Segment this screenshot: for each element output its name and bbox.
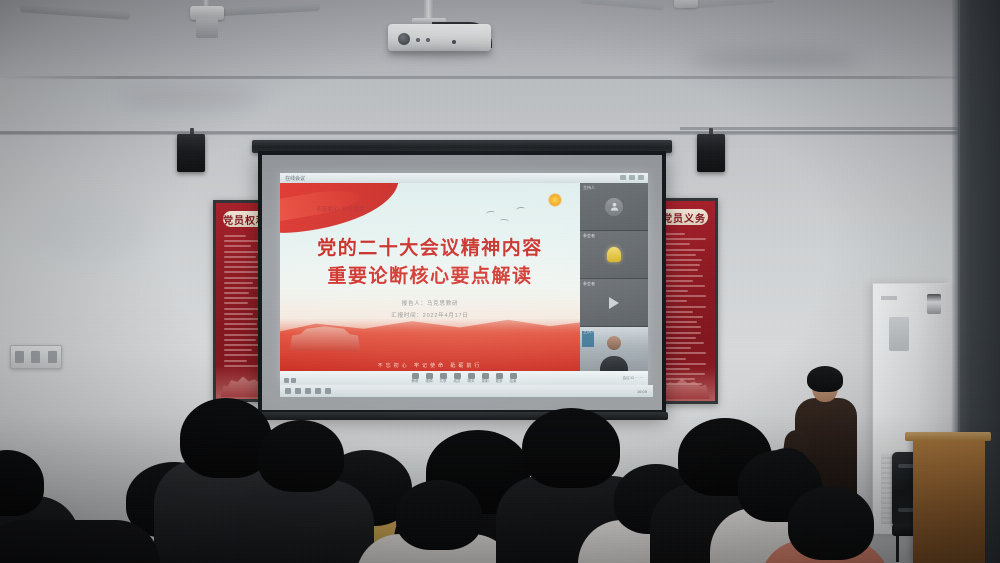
poster-text-line bbox=[661, 321, 697, 323]
projector-indicator bbox=[452, 40, 456, 44]
meeting-toolbar-left[interactable] bbox=[284, 378, 296, 383]
webcam-person-head bbox=[607, 336, 621, 350]
wall-conduit bbox=[0, 131, 1000, 135]
poster-text-line bbox=[661, 342, 704, 344]
toolbar-more[interactable]: 更多 bbox=[496, 373, 503, 384]
participant-tile-1[interactable]: 主持人 bbox=[580, 183, 648, 231]
ac-brand-label bbox=[881, 296, 897, 300]
toolbar-share[interactable]: 共享 bbox=[440, 373, 447, 384]
participant-tile-4[interactable]: 主讲人 bbox=[580, 327, 648, 375]
toolbar-participants[interactable]: 成员 bbox=[454, 373, 461, 384]
poster-text-line bbox=[224, 323, 257, 325]
taskbar-clock: 16:05 bbox=[637, 389, 647, 394]
poster-text-line bbox=[661, 264, 700, 266]
meeting-icon[interactable] bbox=[315, 388, 321, 394]
poster-text-line bbox=[661, 332, 701, 334]
audience-hair bbox=[258, 420, 344, 492]
arrow-icon bbox=[609, 297, 619, 309]
slide-footer-text: 不忘初心 牢记使命 砥砺前行 bbox=[280, 362, 580, 369]
fan-hub bbox=[674, 0, 698, 8]
participant-label: 参会者 bbox=[583, 233, 595, 239]
document-icon[interactable] bbox=[325, 388, 331, 394]
audience-hair bbox=[396, 480, 482, 550]
poster-text-line bbox=[224, 313, 253, 315]
classroom-photo: 党员权利 党员义务 在线会议 不忘初 bbox=[0, 0, 1000, 563]
poster-text-line bbox=[661, 306, 706, 308]
poster-text-line bbox=[661, 249, 705, 251]
minimize-icon[interactable] bbox=[620, 175, 626, 180]
toolbar-item-label: 结束 bbox=[510, 379, 517, 384]
poster-right-title: 党员义务 bbox=[660, 209, 707, 225]
toolbar-camera[interactable]: 视频 bbox=[426, 373, 433, 384]
window-controls[interactable] bbox=[620, 175, 644, 180]
wooden-podium bbox=[913, 437, 985, 563]
light-switch-panel[interactable] bbox=[10, 345, 62, 369]
audience-body bbox=[234, 480, 374, 563]
poster-text-line bbox=[224, 334, 261, 336]
bell-icon bbox=[607, 247, 621, 262]
poster-text-line bbox=[661, 295, 706, 297]
slide-title-line-2: 重要论断核心要点解读 bbox=[280, 261, 580, 288]
meeting-window-title: 在线会议 bbox=[285, 175, 305, 182]
wall-smudge-3 bbox=[30, 200, 150, 260]
poster-text-line bbox=[224, 282, 253, 284]
projection-screen-weight-bar bbox=[256, 412, 668, 420]
close-icon[interactable] bbox=[638, 175, 644, 180]
ac-display-icon bbox=[927, 294, 941, 314]
chair-leg bbox=[896, 536, 899, 562]
toolbar-leave[interactable]: 结束 bbox=[510, 373, 517, 384]
folder-icon[interactable] bbox=[295, 388, 301, 394]
projection-screen-surface: 在线会议 不忘初心 牢记使命 党的二十大会议精神内容 重要论断核心要点解读 报 bbox=[262, 155, 662, 410]
poster-text-line bbox=[224, 256, 256, 258]
os-taskbar[interactable]: 16:05 bbox=[280, 385, 653, 397]
meeting-toolbar[interactable]: 静音视频共享成员聊天录制更多结束会议 ID ··· ··· bbox=[280, 371, 648, 385]
participant-label: 主持人 bbox=[583, 185, 595, 191]
toolbar-item-label: 成员 bbox=[454, 379, 461, 384]
toolbar-item-label: 视频 bbox=[426, 379, 433, 384]
slide-subtitle-presenter: 报告人：马克思教研 bbox=[280, 299, 580, 307]
poster-text-line bbox=[224, 235, 246, 237]
poster-text-line bbox=[224, 261, 261, 263]
poster-text-line bbox=[224, 349, 252, 351]
participant-label: 参会者 bbox=[583, 281, 595, 287]
projector-mount bbox=[424, 0, 433, 20]
toolbar-item-label: 录制 bbox=[482, 379, 489, 384]
toolbar-item-label: 更多 bbox=[496, 379, 503, 384]
poster-text-line bbox=[661, 259, 702, 261]
slide-title-line-1: 党的二十大会议精神内容 bbox=[280, 233, 580, 260]
poster-text-line bbox=[224, 339, 256, 341]
slide-bird-icon bbox=[516, 206, 526, 212]
audience-hair bbox=[522, 408, 620, 488]
poster-text-line bbox=[661, 254, 696, 256]
poster-text-line bbox=[661, 337, 696, 339]
poster-text-line bbox=[661, 326, 701, 328]
slide-brand-text: 不忘初心 牢记使命 bbox=[316, 205, 365, 213]
person-avatar-icon bbox=[605, 198, 623, 216]
poster-right-body bbox=[661, 233, 707, 371]
poster-text-line bbox=[224, 318, 263, 320]
slide-subtitle-date: 汇报时间：2022年4月17日 bbox=[280, 311, 580, 319]
online-meeting-window[interactable]: 在线会议 不忘初心 牢记使命 党的二十大会议精神内容 重要论断核心要点解读 报 bbox=[280, 173, 648, 385]
presenter-hair bbox=[807, 366, 843, 392]
poster-text-line bbox=[661, 316, 703, 318]
ceiling-seam bbox=[0, 76, 1000, 79]
meeting-id-status: 会议 ID ··· ··· bbox=[623, 376, 643, 381]
speaker-left bbox=[177, 134, 205, 172]
toolbar-record[interactable]: 录制 bbox=[482, 373, 489, 384]
browser-icon[interactable] bbox=[305, 388, 311, 394]
video-icon[interactable] bbox=[291, 378, 296, 383]
participant-rail[interactable]: 主持人 参会者 参会者 主讲人 bbox=[580, 183, 648, 371]
participant-tile-3[interactable]: 参会者 bbox=[580, 279, 648, 327]
poster-text-line bbox=[224, 292, 249, 294]
poster-text-line bbox=[661, 285, 705, 287]
switch-toggle[interactable] bbox=[48, 351, 57, 363]
slide-bird-icon bbox=[486, 210, 496, 216]
poster-text-line bbox=[661, 352, 706, 354]
switch-toggle[interactable] bbox=[15, 351, 24, 363]
poster-text-line bbox=[661, 363, 706, 365]
poster-text-line bbox=[224, 360, 247, 362]
start-icon[interactable] bbox=[285, 388, 291, 394]
audience-body bbox=[0, 520, 160, 563]
ceiling bbox=[0, 0, 1000, 78]
shared-slide: 不忘初心 牢记使命 党的二十大会议精神内容 重要论断核心要点解读 报告人：马克思… bbox=[280, 183, 580, 371]
audience-hair bbox=[788, 486, 874, 560]
projector-shadow bbox=[386, 50, 494, 59]
toolbar-microphone[interactable]: 静音 bbox=[412, 373, 419, 384]
slide-star-icon bbox=[548, 193, 562, 207]
toolbar-item-label: 共享 bbox=[440, 379, 447, 384]
poster-text-line bbox=[224, 271, 258, 273]
poster-text-line bbox=[661, 269, 698, 271]
wall-smudge-2 bbox=[120, 88, 260, 108]
poster-text-line bbox=[224, 302, 248, 304]
poster-text-line bbox=[224, 277, 263, 279]
participant-label: 主讲人 bbox=[583, 329, 595, 335]
slide-bird-icon bbox=[500, 219, 509, 225]
wooden-podium-top bbox=[905, 432, 991, 441]
poster-text-line bbox=[224, 328, 260, 330]
switch-toggle[interactable] bbox=[31, 351, 40, 363]
poster-text-line bbox=[224, 266, 259, 268]
speaker-right bbox=[697, 134, 725, 172]
poster-text-line bbox=[661, 275, 703, 277]
poster-text-line bbox=[661, 238, 706, 240]
toolbar-item-label: 聊天 bbox=[468, 379, 475, 384]
toolbar-item-label: 静音 bbox=[412, 379, 419, 384]
ac-control-panel[interactable] bbox=[889, 317, 909, 351]
toolbar-chat[interactable]: 聊天 bbox=[468, 373, 475, 384]
fan-motor bbox=[196, 18, 218, 38]
maximize-icon[interactable] bbox=[629, 175, 635, 180]
projector-indicator bbox=[426, 38, 430, 42]
wall-smudge-1 bbox=[690, 52, 860, 68]
meeting-titlebar: 在线会议 bbox=[280, 173, 648, 183]
projector-lens-icon bbox=[398, 33, 410, 45]
participant-tile-2[interactable]: 参会者 bbox=[580, 231, 648, 279]
poster-text-line bbox=[224, 245, 251, 247]
mute-icon[interactable] bbox=[284, 378, 289, 383]
projector-indicator bbox=[416, 38, 420, 42]
